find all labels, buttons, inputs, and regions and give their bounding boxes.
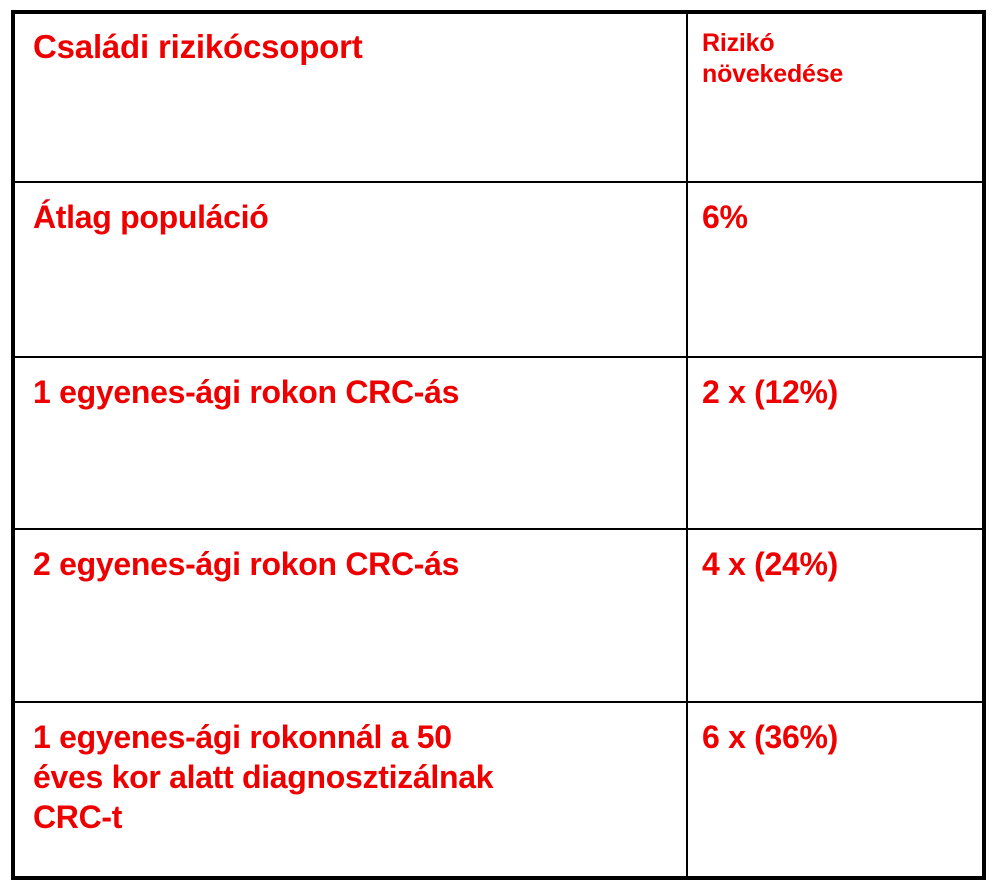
table-row: 1 egyenes-ági rokonnál a 50 éves kor ala… xyxy=(13,702,984,878)
family-risk-table: Családi rizikócsoport Rizikó növekedése … xyxy=(11,10,986,880)
header-cell-increase: Rizikó növekedése xyxy=(687,12,984,182)
row-label-average-population: Átlag populáció xyxy=(33,197,676,237)
row-value-relative-diagnosed-under-50: 6 x (36%) xyxy=(702,717,972,757)
table-header-row: Családi rizikócsoport Rizikó növekedése xyxy=(13,12,984,182)
row-label-two-first-degree-relatives: 2 egyenes-ági rokon CRC-ás xyxy=(33,544,676,584)
row-value-average-population: 6% xyxy=(702,197,972,237)
slide-page: Családi rizikócsoport Rizikó növekedése … xyxy=(0,0,999,886)
column-header-risk-increase: Rizikó növekedése xyxy=(702,28,972,90)
row-value-two-first-degree-relatives: 4 x (24%) xyxy=(702,544,972,584)
table-row: Átlag populáció 6% xyxy=(13,182,984,357)
table-row: 2 egyenes-ági rokon CRC-ás 4 x (24%) xyxy=(13,529,984,702)
cell-increase: 2 x (12%) xyxy=(687,357,984,529)
table-row: 1 egyenes-ági rokon CRC-ás 2 x (12%) xyxy=(13,357,984,529)
cell-increase: 6 x (36%) xyxy=(687,702,984,878)
column-header-family-risk-group: Családi rizikócsoport xyxy=(33,28,676,66)
row-value-one-first-degree-relative: 2 x (12%) xyxy=(702,372,972,412)
row-label-one-first-degree-relative: 1 egyenes-ági rokon CRC-ás xyxy=(33,372,676,412)
cell-group: 1 egyenes-ági rokon CRC-ás xyxy=(13,357,687,529)
cell-increase: 6% xyxy=(687,182,984,357)
row-label-relative-diagnosed-under-50: 1 egyenes-ági rokonnál a 50 éves kor ala… xyxy=(33,717,676,837)
cell-group: Átlag populáció xyxy=(13,182,687,357)
cell-increase: 4 x (24%) xyxy=(687,529,984,702)
cell-group: 1 egyenes-ági rokonnál a 50 éves kor ala… xyxy=(13,702,687,878)
cell-group: 2 egyenes-ági rokon CRC-ás xyxy=(13,529,687,702)
header-cell-group: Családi rizikócsoport xyxy=(13,12,687,182)
